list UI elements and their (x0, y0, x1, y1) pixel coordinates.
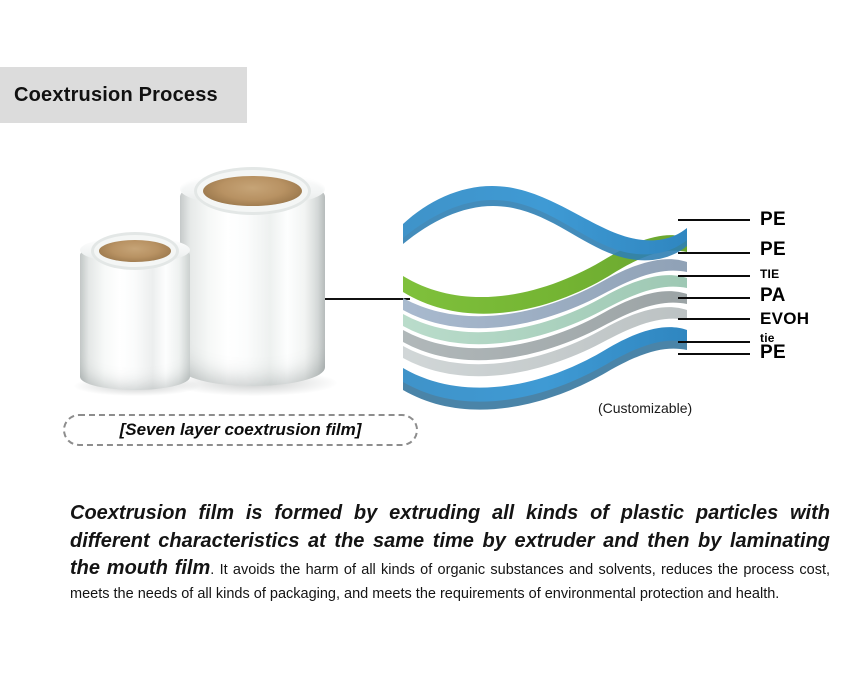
film-roll-large-core (203, 176, 302, 206)
customizable-note: (Customizable) (598, 400, 692, 416)
layer-label-5-evoh: EVOH (760, 310, 809, 327)
layer-sheet-1-pe (403, 186, 687, 260)
film-caption-text: [Seven layer coextrusion film] (120, 420, 362, 440)
layer-label-3-tie: TIE (760, 268, 779, 280)
layer-label-2-pe: PE (760, 240, 786, 259)
film-roll-small-body (80, 242, 190, 390)
body-copy: Coextrusion film is formed by extruding … (70, 500, 830, 605)
film-caption-chip: [Seven layer coextrusion film] (63, 414, 418, 446)
layer-label-1-pe: PE (760, 210, 786, 229)
exploded-layer-stack (395, 180, 695, 430)
leader-line-2 (678, 252, 750, 254)
leader-line-3 (678, 275, 750, 277)
layer-label-7-pe: PE (760, 343, 786, 362)
leader-line-5 (678, 318, 750, 320)
leader-line-1 (678, 219, 750, 221)
page-title: Coextrusion Process (0, 84, 218, 107)
section-header-band: Coextrusion Process (0, 67, 247, 123)
layer-stack-svg (395, 180, 695, 430)
leader-line-4 (678, 297, 750, 299)
description-paragraph: Coextrusion film is formed by extruding … (70, 500, 830, 605)
film-roll-large-body (180, 178, 325, 386)
leader-line-6 (678, 341, 750, 343)
film-rolls-image (72, 170, 332, 410)
film-roll-small (80, 242, 190, 390)
layer-label-4-pa: PA (760, 286, 786, 305)
film-roll-small-core (99, 240, 172, 262)
leader-line-7 (678, 353, 750, 355)
film-roll-large (180, 178, 325, 386)
